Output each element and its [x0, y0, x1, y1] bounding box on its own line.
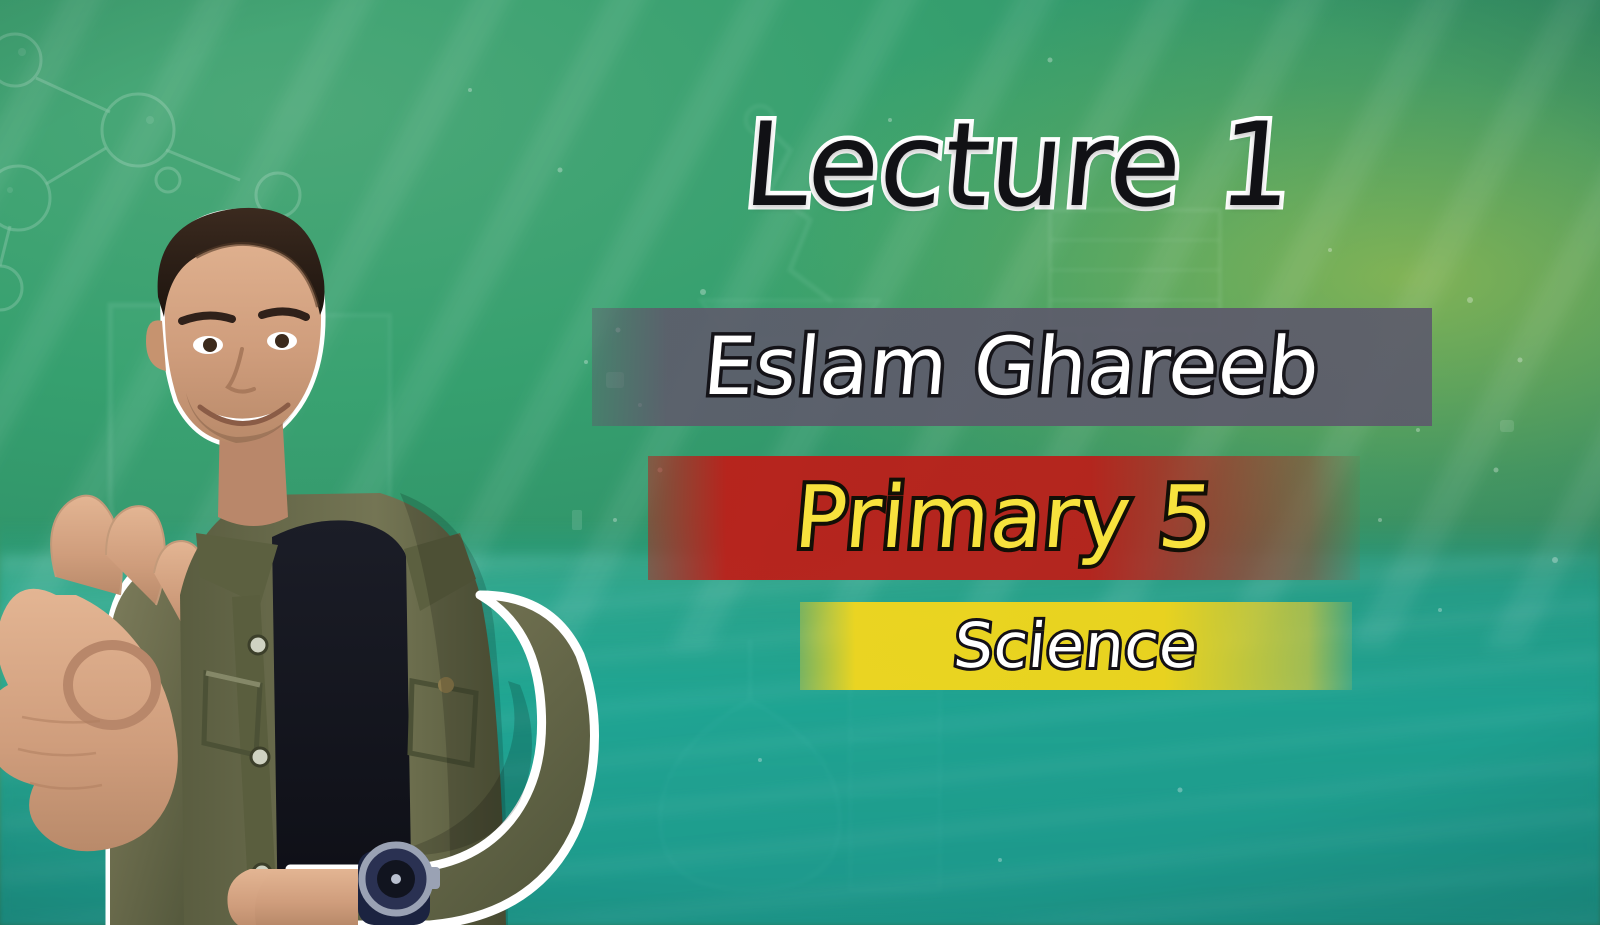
- grade-level-bar: Primary 5: [648, 456, 1360, 580]
- subject-bar: Science: [800, 602, 1352, 690]
- instructor-name-bar: Eslam Ghareeb: [592, 308, 1432, 426]
- subject-label: Science: [951, 615, 1200, 677]
- instructor-name-label: Eslam Ghareeb: [701, 327, 1323, 407]
- grade-level-label: Primary 5: [791, 475, 1217, 561]
- page-title: Lecture 1: [740, 108, 1299, 224]
- lecture-thumbnail: Lecture 1 Eslam Ghareeb Primary 5 Scienc…: [0, 0, 1600, 925]
- presenter-photo: [0, 125, 620, 925]
